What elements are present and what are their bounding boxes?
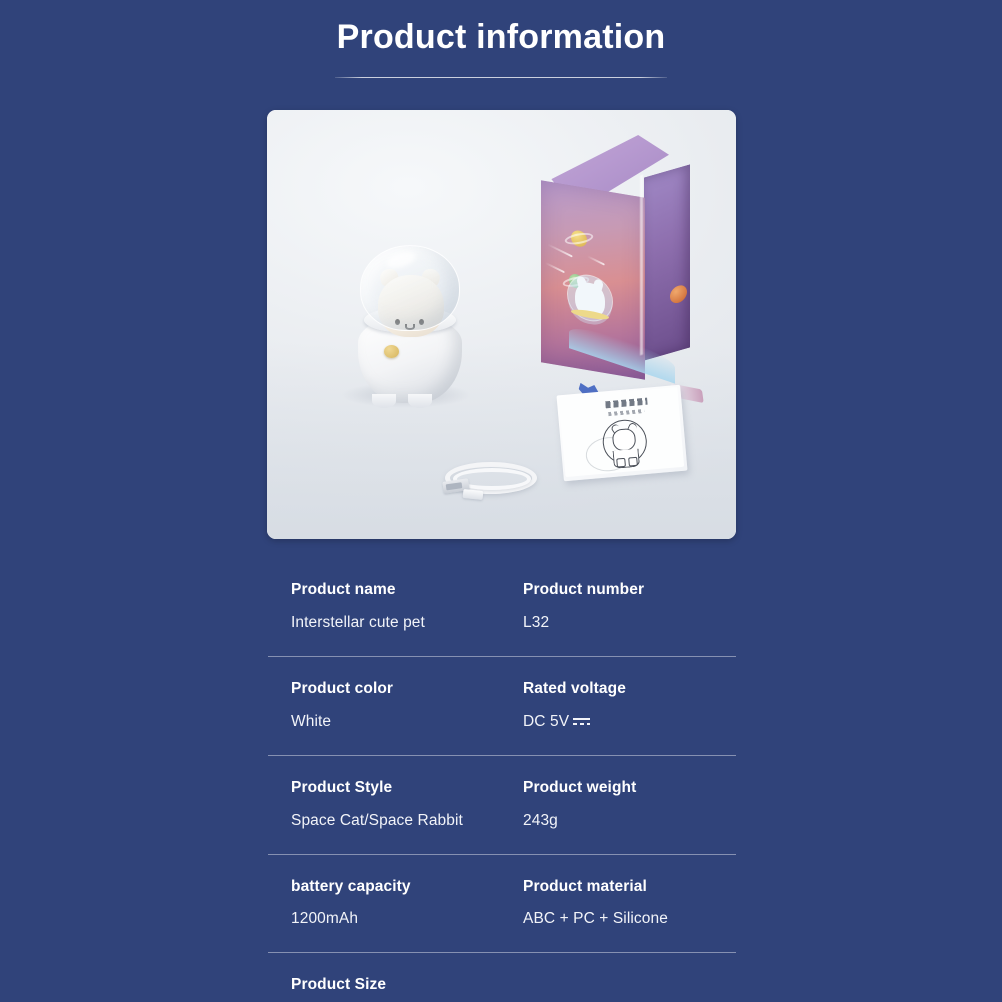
table-row: battery capacity 1200mAh Product materia…	[268, 877, 736, 954]
spec-cell-rated-voltage: Rated voltage DC 5V	[502, 679, 736, 733]
manual-cat-drawing	[597, 418, 653, 472]
spec-cell-product-size: Product Size 156(L)×117(W)×117(H)	[268, 975, 502, 1002]
spec-value: Interstellar cute pet	[291, 613, 502, 634]
box-planet-orange	[670, 283, 687, 305]
page-header: Product information	[0, 0, 1002, 78]
page-title: Product information	[0, 16, 1002, 59]
spec-cell-product-material: Product material ABC + PC + Silicone	[502, 877, 736, 931]
gift-box-image	[513, 135, 679, 385]
voltage-text: DC 5V	[523, 713, 569, 730]
spec-value-voltage: DC 5V	[523, 712, 736, 733]
spec-value: L32	[523, 613, 736, 634]
gift-box-edge-highlight	[640, 175, 643, 356]
manual-cat-leg-left	[616, 458, 626, 468]
spec-cell-product-name: Product name Interstellar cute pet	[268, 580, 502, 634]
spec-label: Product name	[291, 580, 502, 601]
spec-label: Product color	[291, 679, 502, 700]
spec-cell-battery-capacity: battery capacity 1200mAh	[268, 877, 502, 931]
spec-label: Product number	[523, 580, 736, 601]
user-manual-image	[556, 385, 687, 481]
spec-value: Space Cat/Space Rabbit	[291, 811, 502, 832]
photo-scene	[267, 110, 736, 539]
table-row: Product Style Space Cat/Space Rabbit Pro…	[268, 778, 736, 855]
usb-cable-image	[439, 458, 543, 504]
night-light-power-button	[384, 345, 399, 358]
title-divider	[335, 77, 667, 78]
spec-cell-product-number: Product number L32	[502, 580, 736, 634]
night-light-foot-left	[372, 394, 396, 408]
spec-label: battery capacity	[291, 877, 502, 898]
dc-current-icon	[573, 717, 590, 727]
table-row: Product color White Rated voltage DC 5V	[268, 679, 736, 756]
usb-micro-connector	[463, 489, 484, 500]
manual-title-text	[605, 398, 647, 409]
manual-cat-leg-right	[628, 457, 638, 467]
spec-label: Product weight	[523, 778, 736, 799]
table-row: Product Size 156(L)×117(W)×117(H)	[268, 975, 736, 1002]
spec-label: Product material	[523, 877, 736, 898]
manual-subtitle-text	[608, 409, 644, 416]
spec-value: 243g	[523, 811, 736, 832]
box-comet-2	[545, 262, 565, 273]
product-spec-table: Product name Interstellar cute pet Produ…	[268, 580, 736, 1002]
spec-label: Rated voltage	[523, 679, 736, 700]
spec-value: White	[291, 712, 502, 733]
box-comet-1	[547, 243, 572, 257]
gift-box-right-face	[644, 164, 690, 360]
table-row: Product name Interstellar cute pet Produ…	[268, 580, 736, 657]
box-comet-3	[587, 255, 605, 265]
manual-cover-sheet	[559, 387, 685, 477]
spec-value: 1200mAh	[291, 909, 502, 930]
spec-cell-product-color: Product color White	[268, 679, 502, 733]
night-light-image	[352, 245, 472, 405]
spec-cell-empty	[502, 975, 736, 1002]
spec-cell-product-style: Product Style Space Cat/Space Rabbit	[268, 778, 502, 832]
spec-value: ABC + PC + Silicone	[523, 909, 736, 930]
spec-cell-product-weight: Product weight 243g	[502, 778, 736, 832]
spec-label: Product Style	[291, 778, 502, 799]
product-photo-card	[267, 110, 736, 539]
night-light-foot-right	[408, 394, 432, 408]
spec-label: Product Size	[291, 975, 502, 996]
